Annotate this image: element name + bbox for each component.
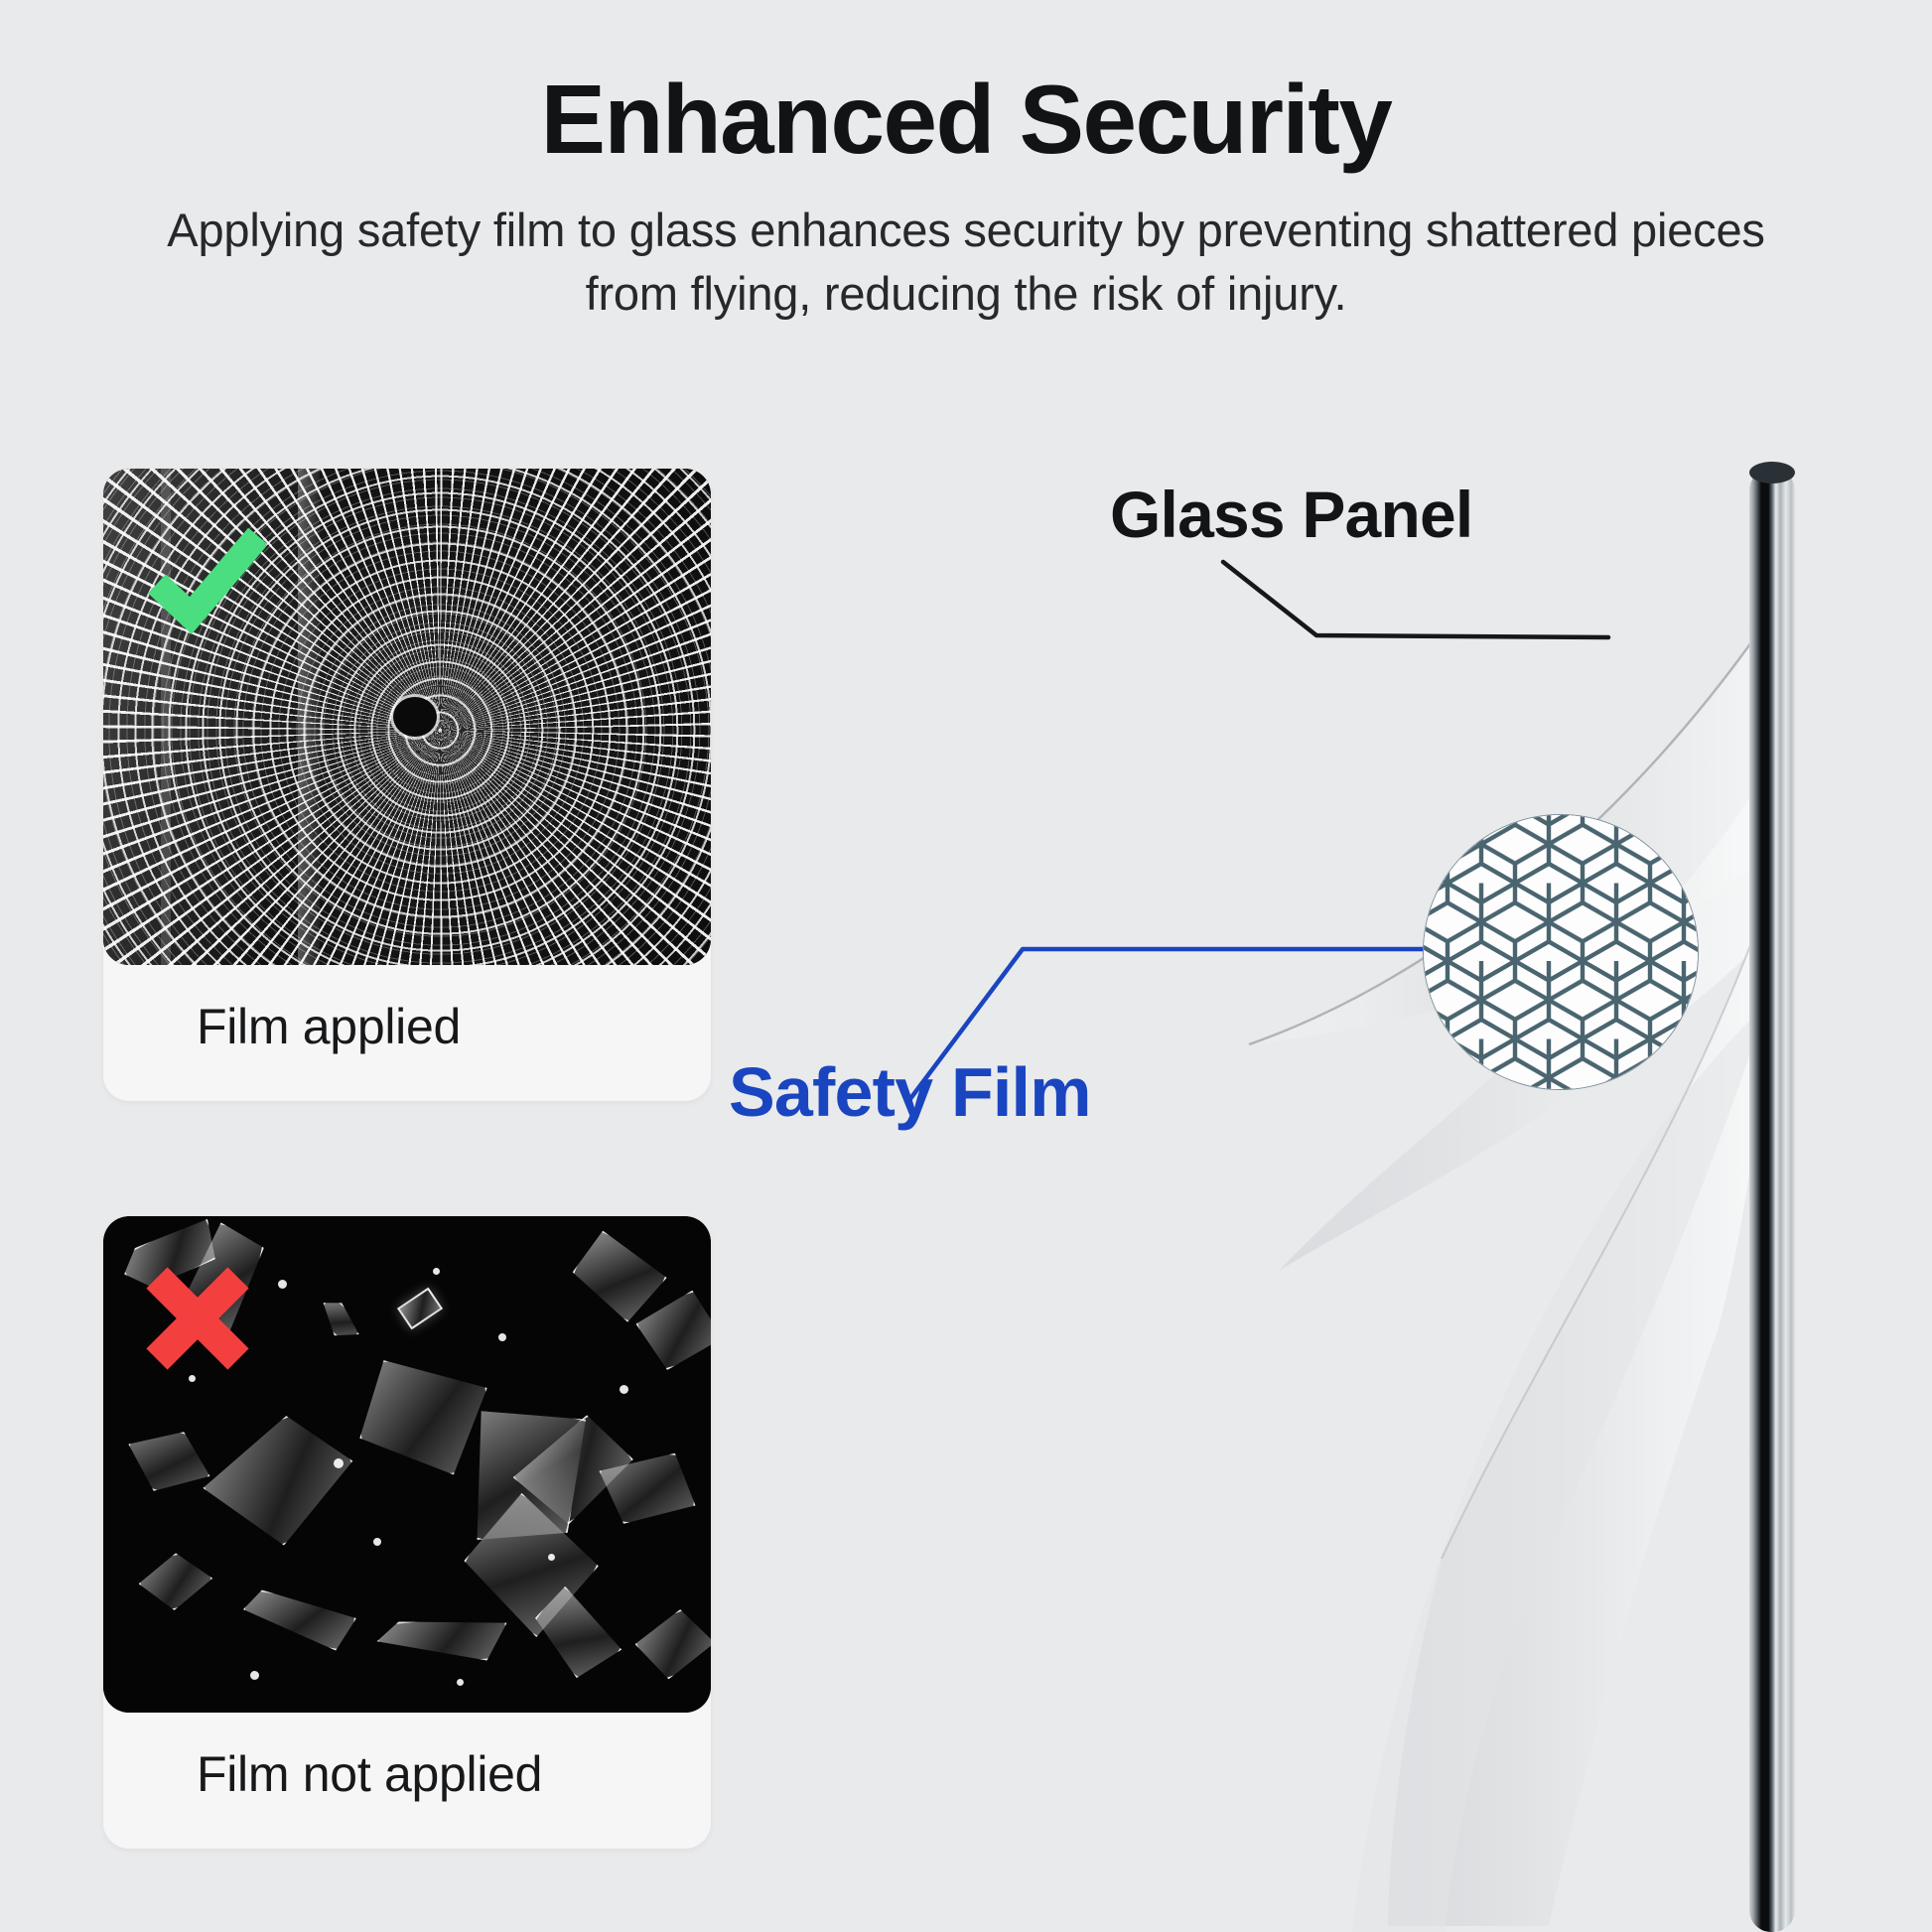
page-title: Enhanced Security: [0, 0, 1932, 173]
hexagon-pattern-icon: [1423, 814, 1699, 1090]
safety-film-label: Safety Film: [729, 1052, 1091, 1132]
comparison-cards: Film applied: [103, 469, 719, 1932]
glass-speck: [548, 1554, 555, 1561]
glass-speck: [250, 1671, 259, 1680]
cross-mark-icon: [143, 1264, 252, 1373]
glass-speck: [457, 1679, 464, 1686]
glass-speck: [278, 1280, 287, 1289]
card-film-not-applied[interactable]: Film not applied: [103, 1216, 711, 1849]
magnifier-hexagon-detail: [1423, 814, 1699, 1090]
crack-light-streak: [298, 469, 320, 965]
glass-speck: [498, 1333, 506, 1341]
glass-speck: [373, 1538, 381, 1546]
impact-point: [393, 697, 437, 737]
glass-panel-leader-line: [1142, 556, 1837, 755]
glass-panel-top-cap: [1749, 462, 1795, 483]
glass-speck: [433, 1268, 440, 1275]
glass-speck: [620, 1385, 628, 1394]
glass-panel-label: Glass Panel: [1110, 477, 1472, 552]
card-caption-film-not-applied: Film not applied: [103, 1713, 711, 1849]
page-subtitle: Applying safety film to glass enhances s…: [162, 199, 1770, 326]
check-mark-icon: [147, 520, 266, 639]
card-caption-film-applied: Film applied: [103, 965, 711, 1101]
glass-speck: [334, 1458, 344, 1468]
header: Enhanced Security Applying safety film t…: [0, 0, 1932, 326]
flying-shards-image: [103, 1216, 711, 1713]
glass-speck: [189, 1375, 196, 1382]
shattered-glass-image: [103, 469, 711, 965]
glass-panel-diagram: Glass Panel Safety Film: [993, 377, 1932, 1932]
card-film-applied[interactable]: Film applied: [103, 469, 711, 1101]
infographic-root: Enhanced Security Applying safety film t…: [0, 0, 1932, 1932]
